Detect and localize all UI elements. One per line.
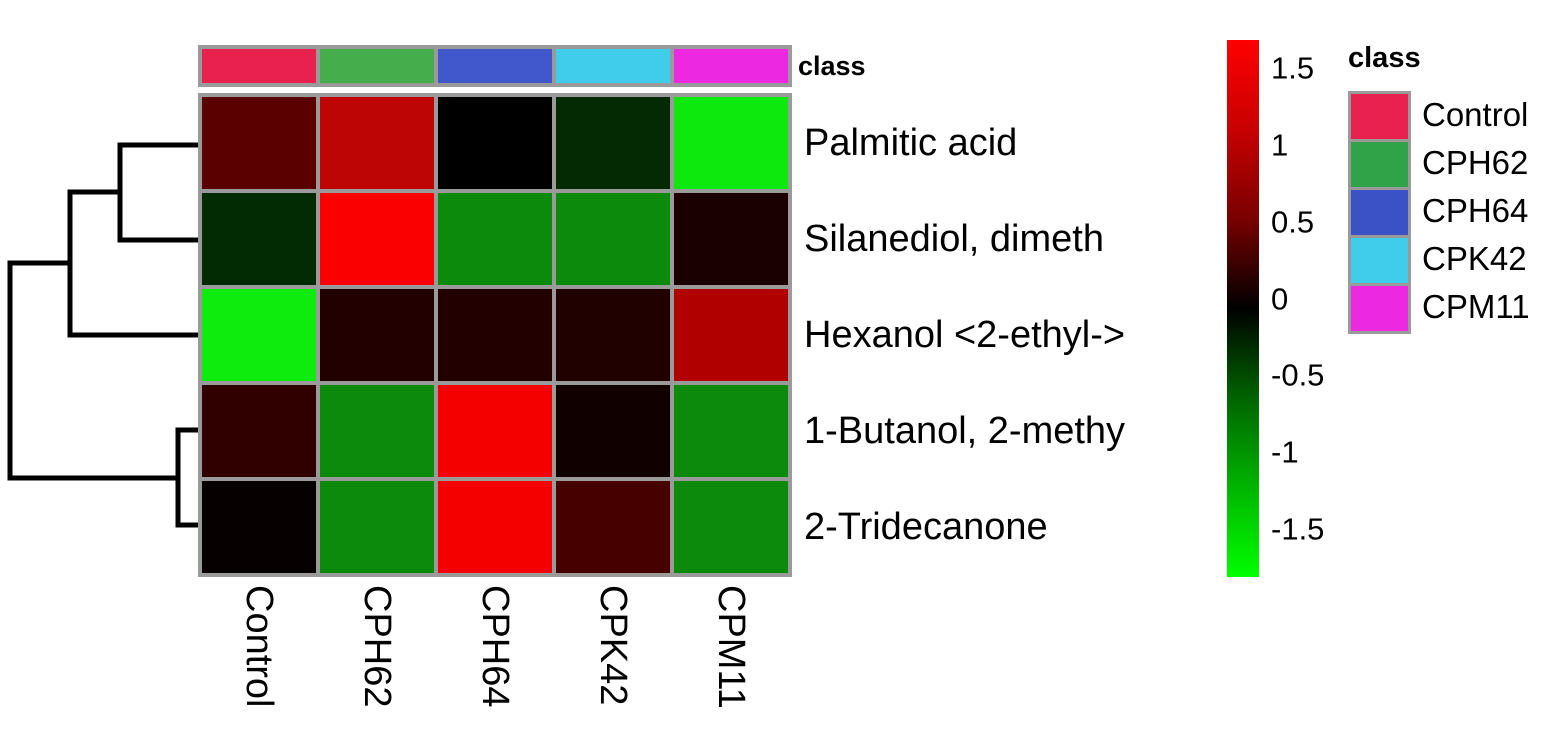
colorbar-tick-label: 1 bbox=[1271, 129, 1288, 160]
legend-item-label: CPK42 bbox=[1422, 235, 1530, 283]
heatmap-cell[interactable] bbox=[438, 97, 552, 189]
heatmap-block: class Palmitic acidSilanediol, dimethHex… bbox=[198, 45, 792, 87]
colorbar-tick-label: 1.5 bbox=[1271, 53, 1314, 84]
legend-item-label: CPM11 bbox=[1422, 283, 1530, 331]
heatmap-cell[interactable] bbox=[438, 385, 552, 477]
heatmap-cell[interactable] bbox=[438, 481, 552, 573]
class-annotation-cell-cpk42 bbox=[556, 49, 670, 83]
class-annotation-cell-cph62 bbox=[320, 49, 434, 83]
dendrogram-branch-r12-r3 bbox=[70, 192, 200, 335]
heatmap-row bbox=[202, 481, 788, 573]
heatmap-cell[interactable] bbox=[556, 385, 670, 477]
legend-item-label: CPH62 bbox=[1422, 139, 1530, 187]
legend-swatch-control bbox=[1351, 94, 1408, 139]
heatmap-cell[interactable] bbox=[202, 481, 316, 573]
column-label: Control bbox=[240, 585, 278, 708]
heatmap-cell[interactable] bbox=[320, 193, 434, 285]
class-annotation-cell-cph64 bbox=[438, 49, 552, 83]
heatmap-cell[interactable] bbox=[202, 289, 316, 381]
heatmap-cell[interactable] bbox=[556, 193, 670, 285]
row-label: Silanediol, dimeth bbox=[804, 220, 1104, 258]
colorbar-tick-label: -1 bbox=[1271, 437, 1299, 468]
class-annotation-cell-control bbox=[202, 49, 316, 83]
heatmap-row bbox=[202, 289, 788, 381]
row-label: Palmitic acid bbox=[804, 124, 1017, 162]
heatmap-cell[interactable] bbox=[674, 193, 788, 285]
heatmap-cell[interactable] bbox=[674, 481, 788, 573]
colorbar-tick-label: 0 bbox=[1271, 283, 1288, 314]
heatmap-cell[interactable] bbox=[202, 193, 316, 285]
class-annotation-cell-cpm11 bbox=[674, 49, 788, 83]
dendrogram-branch-root bbox=[10, 263, 178, 478]
legend-swatches bbox=[1348, 91, 1411, 334]
dendrogram-branch-r4-r5 bbox=[178, 430, 200, 525]
heatmap-cell[interactable] bbox=[202, 385, 316, 477]
heatmap-row bbox=[202, 385, 788, 477]
heatmap-cell[interactable] bbox=[556, 481, 670, 573]
heatmap-cell[interactable] bbox=[556, 97, 670, 189]
row-label: Hexanol <2-ethyl-> bbox=[804, 316, 1125, 354]
legend-labels: ControlCPH62CPH64CPK42CPM11 bbox=[1422, 91, 1530, 331]
legend-item-label: CPH64 bbox=[1422, 187, 1530, 235]
heatmap-cell[interactable] bbox=[438, 193, 552, 285]
column-label: CPM11 bbox=[712, 585, 750, 709]
class-annotation-track bbox=[198, 45, 792, 87]
colorbar-gradient bbox=[1227, 40, 1259, 577]
row-dendrogram-svg bbox=[0, 90, 200, 580]
heatmap-cell[interactable] bbox=[556, 289, 670, 381]
heatmap-cell[interactable] bbox=[438, 289, 552, 381]
column-label: CPH62 bbox=[358, 585, 396, 708]
row-label: 1-Butanol, 2-methy bbox=[804, 412, 1125, 450]
class-legend: class ControlCPH62CPH64CPK42CPM11 bbox=[1348, 44, 1421, 85]
heatmap-cell[interactable] bbox=[674, 385, 788, 477]
legend-swatch-cpk42 bbox=[1351, 238, 1408, 283]
row-label: 2-Tridecanone bbox=[804, 508, 1048, 546]
dendrogram-branch-r1-r2 bbox=[120, 145, 200, 240]
legend-swatch-cph62 bbox=[1351, 142, 1408, 187]
heatmap-cell[interactable] bbox=[320, 289, 434, 381]
legend-swatch-cph64 bbox=[1351, 190, 1408, 235]
heatmap-cell[interactable] bbox=[202, 97, 316, 189]
heatmap-cell[interactable] bbox=[320, 97, 434, 189]
column-label: CPH64 bbox=[476, 585, 514, 708]
colorbar-tick-label: -0.5 bbox=[1271, 360, 1324, 391]
heatmap-row bbox=[202, 97, 788, 189]
class-annotation-label: class bbox=[798, 45, 866, 87]
column-label: CPK42 bbox=[594, 585, 632, 705]
row-dendrogram bbox=[0, 90, 200, 580]
heatmap-cell[interactable] bbox=[320, 481, 434, 573]
colorbar-tick-label: 0.5 bbox=[1271, 206, 1314, 237]
colorbar-tick-label: -1.5 bbox=[1271, 514, 1324, 545]
heatmap-cell[interactable] bbox=[320, 385, 434, 477]
heatmap-row bbox=[202, 193, 788, 285]
legend-swatch-cpm11 bbox=[1351, 286, 1408, 331]
heatmap-cell[interactable] bbox=[674, 97, 788, 189]
legend-title: class bbox=[1348, 44, 1421, 73]
heatmap-matrix bbox=[198, 93, 792, 577]
heatmap-cell[interactable] bbox=[674, 289, 788, 381]
dendrogram-branches bbox=[10, 145, 200, 525]
legend-item-label: Control bbox=[1422, 91, 1530, 139]
